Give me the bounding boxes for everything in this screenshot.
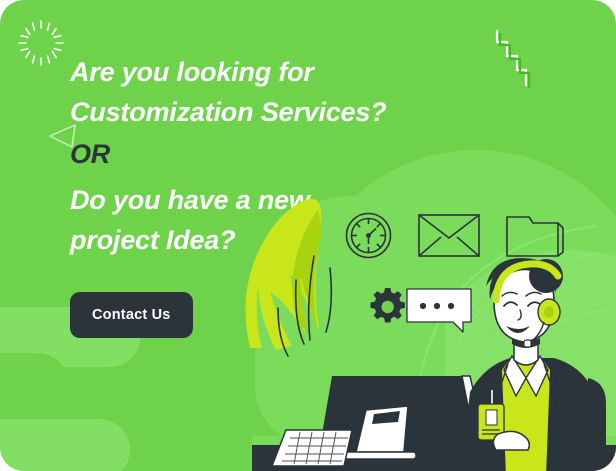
- plant-illustration: [245, 199, 331, 356]
- support-agent-illustration: [0, 0, 616, 471]
- promo-banner: Are you looking for Customization Servic…: [0, 0, 616, 471]
- keyboard: [272, 430, 352, 466]
